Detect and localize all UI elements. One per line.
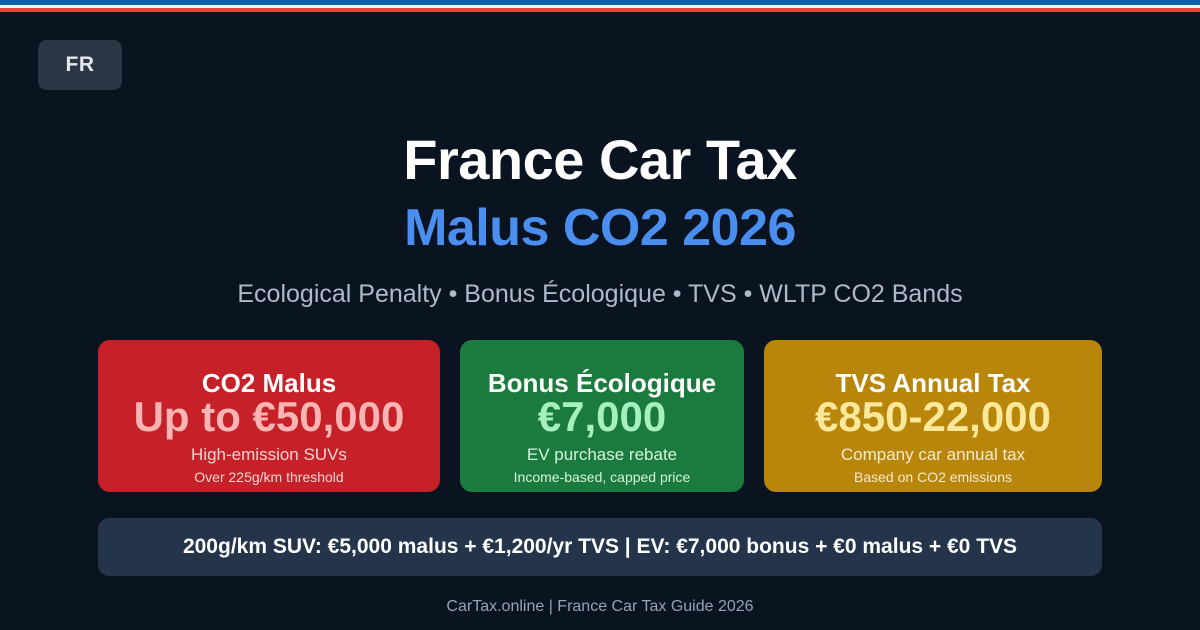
country-badge-fr[interactable]: FR (38, 40, 122, 90)
footer-text: CarTax.online | France Car Tax Guide 202… (446, 598, 753, 615)
stat-card-bonus-ecologique: Bonus Écologique €7,000 EV purchase reba… (460, 340, 744, 492)
page-title: France Car Tax Malus CO2 2026 (0, 132, 1200, 254)
infographic-canvas: FR France Car Tax Malus CO2 2026 Ecologi… (0, 0, 1200, 630)
stat-card-note-primary: High-emission SUVs (191, 445, 347, 465)
flag-band-red (0, 8, 1200, 12)
stat-card-note-secondary: Based on CO2 emissions (854, 469, 1012, 486)
stat-card-tvs-annual-tax: TVS Annual Tax €850-22,000 Company car a… (764, 340, 1102, 492)
stat-card-value: Up to €50,000 (134, 395, 405, 439)
stat-card-value: €850-22,000 (815, 395, 1051, 439)
title-subtitle: Malus CO2 2026 (0, 202, 1200, 254)
stat-card-note-primary: Company car annual tax (841, 445, 1025, 465)
stat-card-co2-malus: CO2 Malus Up to €50,000 High-emission SU… (98, 340, 440, 492)
tagline: Ecological Penalty • Bonus Écologique • … (0, 280, 1200, 309)
footer-attribution: CarTax.online | France Car Tax Guide 202… (0, 598, 1200, 616)
stat-card-row: CO2 Malus Up to €50,000 High-emission SU… (98, 340, 1102, 492)
stat-card-value: €7,000 (538, 395, 666, 439)
title-main: France Car Tax (0, 132, 1200, 188)
stat-card-note-primary: EV purchase rebate (527, 445, 677, 465)
stat-card-note-secondary: Income-based, capped price (514, 469, 691, 486)
french-tricolor-bar (0, 0, 1200, 12)
country-badge-label: FR (66, 53, 95, 77)
example-calculation-banner: 200g/km SUV: €5,000 malus + €1,200/yr TV… (98, 518, 1102, 576)
example-calculation-text: 200g/km SUV: €5,000 malus + €1,200/yr TV… (183, 535, 1017, 559)
stat-card-note-secondary: Over 225g/km threshold (194, 469, 343, 486)
